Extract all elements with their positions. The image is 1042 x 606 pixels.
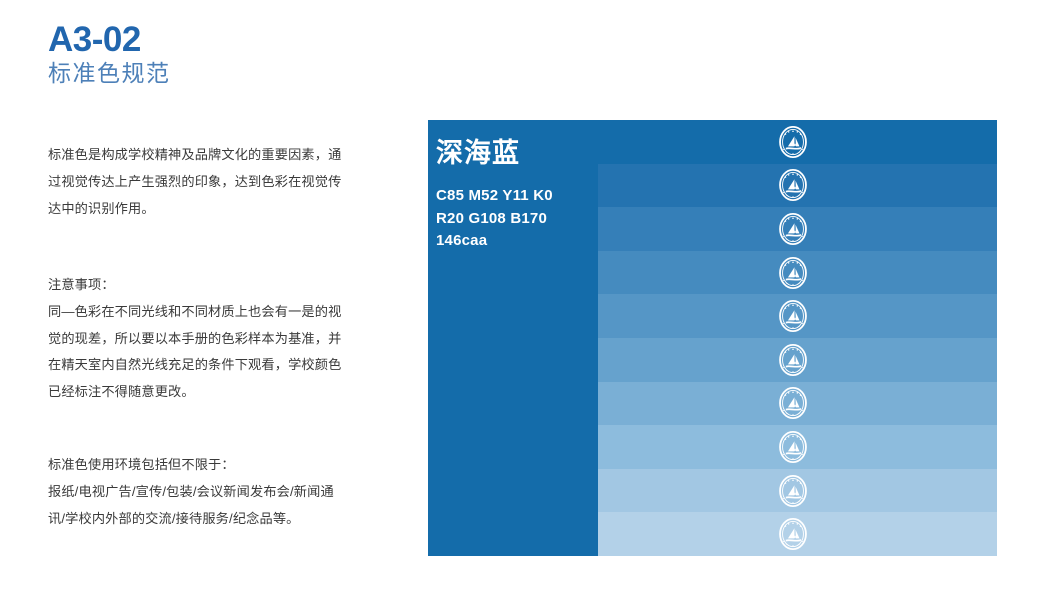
notice-text: 注意事项： 同—色彩在不同光线和不同材质上也会有一是的视 觉的现差，所以要以本手… (48, 272, 406, 406)
intro-line: 达中的识别作用。 (48, 196, 406, 223)
school-sailboat-emblem-icon (775, 385, 811, 421)
notice-line: 觉的现差，所以要以本手册的色彩样本为基准，并 (48, 326, 406, 353)
intro-line: 标准色是构成学校精神及品牌文化的重要因素，通 (48, 142, 406, 169)
school-sailboat-emblem-icon (775, 255, 811, 291)
notice-line: 已经标注不得随意更改。 (48, 379, 406, 406)
intro-line: 过视觉传达上产生强烈的印象，达到色彩在视觉传 (48, 169, 406, 196)
school-sailboat-emblem-icon (775, 429, 811, 465)
page-code: A3-02 (48, 22, 408, 59)
school-sailboat-emblem-icon (775, 124, 811, 160)
usage-line: 讯/学校内外部的交流/接待服务/纪念品等。 (48, 506, 406, 533)
master-color-block (428, 120, 598, 556)
school-sailboat-emblem-icon (775, 342, 811, 378)
notice-heading: 注意事项： (48, 272, 406, 299)
notice-line: 在精天室内自然光线充足的条件下观看，学校颜色 (48, 352, 406, 379)
school-sailboat-emblem-icon (775, 473, 811, 509)
usage-paragraph: 标准色使用环境包括但不限于： 报纸/电视广告/宣传/包装/会议新闻发布会/新闻通… (48, 452, 406, 532)
color-specification-panel: 深海蓝 C85 M52 Y11 K0 R20 G108 B170 146caa (428, 120, 997, 556)
usage-text: 标准色使用环境包括但不限于： 报纸/电视广告/宣传/包装/会议新闻发布会/新闻通… (48, 452, 406, 532)
usage-line: 报纸/电视广告/宣传/包装/会议新闻发布会/新闻通 (48, 479, 406, 506)
school-sailboat-emblem-icon (775, 298, 811, 334)
usage-heading: 标准色使用环境包括但不限于： (48, 452, 406, 479)
school-sailboat-emblem-icon (775, 211, 811, 247)
school-sailboat-emblem-icon (775, 167, 811, 203)
school-sailboat-emblem-icon (775, 516, 811, 552)
page-title: 标准色规范 (48, 61, 408, 86)
notice-line: 同—色彩在不同光线和不同材质上也会有一是的视 (48, 299, 406, 326)
page-header: A3-02 标准色规范 (48, 22, 408, 86)
notice-paragraph: 注意事项： 同—色彩在不同光线和不同材质上也会有一是的视 觉的现差，所以要以本手… (48, 272, 406, 406)
intro-text: 标准色是构成学校精神及品牌文化的重要因素，通 过视觉传达上产生强烈的印象，达到色… (48, 142, 406, 222)
intro-paragraph: 标准色是构成学校精神及品牌文化的重要因素，通 过视觉传达上产生强烈的印象，达到色… (48, 142, 406, 222)
